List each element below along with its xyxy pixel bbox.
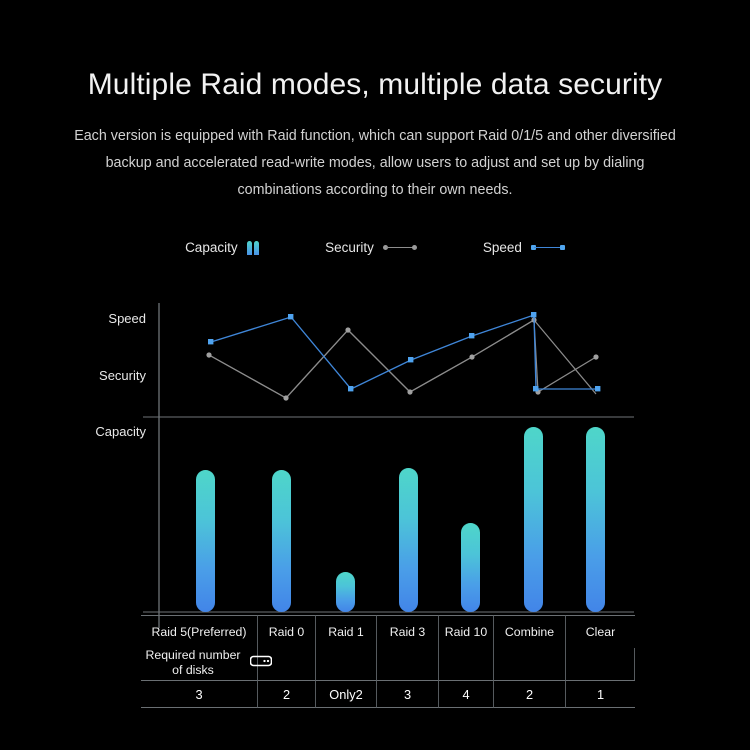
table-value-raid3: 3 <box>377 680 439 708</box>
table-header-row: Raid 5(Preferred) Raid 0 Raid 1 Raid 3 R… <box>141 615 635 648</box>
table-col-raid1: Raid 1 <box>316 615 377 648</box>
required-disks-label: Required number of disks <box>145 648 240 678</box>
table-col-raid5: Raid 5(Preferred) <box>141 615 258 648</box>
legend-label-security: Security <box>325 240 374 255</box>
table-mid-cell-raid3 <box>377 648 439 680</box>
required-disks-label-line1: Required number <box>145 648 240 662</box>
table-value-raid1: Only2 <box>316 680 377 708</box>
table-mid-cell-clear <box>566 648 635 680</box>
table-value-combine: 2 <box>494 680 566 708</box>
bar-raid1 <box>336 572 355 612</box>
legend-label-capacity: Capacity <box>185 240 238 255</box>
bar-raid5 <box>196 470 215 612</box>
line-dot-icon <box>383 244 417 252</box>
bars-icon <box>247 241 260 255</box>
legend-item-capacity: Capacity <box>185 240 259 255</box>
table-col-raid3: Raid 3 <box>377 615 439 648</box>
bar-clear <box>586 427 605 612</box>
table-col-raid10: Raid 10 <box>439 615 494 648</box>
required-disks-label-line2: of disks <box>172 663 214 677</box>
table-value-raid10: 4 <box>439 680 494 708</box>
table-mid-cell-raid1 <box>316 648 377 680</box>
table-col-clear: Clear <box>566 615 635 648</box>
line-square-icon <box>531 244 565 252</box>
header: Multiple Raid modes, multiple data secur… <box>0 0 750 204</box>
page-title: Multiple Raid modes, multiple data secur… <box>0 68 750 101</box>
legend-item-speed: Speed <box>483 240 565 255</box>
table-value-clear: 1 <box>566 680 635 708</box>
table-col-combine: Combine <box>494 615 566 648</box>
bar-combine <box>524 427 543 612</box>
legend-label-speed: Speed <box>483 240 522 255</box>
security-line-series <box>206 317 598 400</box>
table-values-row: 3 2 Only2 3 4 2 1 <box>141 680 635 708</box>
capacity-bars <box>196 427 605 612</box>
page-description: Each version is equipped with Raid funct… <box>64 123 686 204</box>
hard-disk-icon <box>250 654 272 673</box>
bar-raid0 <box>272 470 291 612</box>
axis-label-capacity: Capacity <box>95 424 146 439</box>
chart-axes <box>143 303 634 628</box>
table-mid-cell-combine <box>494 648 566 680</box>
table-mid-cell-raid10 <box>439 648 494 680</box>
axis-label-security: Security <box>99 368 146 383</box>
table-col-raid0: Raid 0 <box>258 615 316 648</box>
table-value-raid0: 2 <box>258 680 316 708</box>
bar-raid10 <box>461 523 480 612</box>
bar-raid3 <box>399 468 418 612</box>
legend-item-security: Security <box>325 240 417 255</box>
speed-line-series <box>208 312 600 391</box>
table-value-raid5: 3 <box>141 680 258 708</box>
raid-infographic-page: Multiple Raid modes, multiple data secur… <box>0 0 750 750</box>
axis-label-speed: Speed <box>108 311 146 326</box>
required-disks-annotation: Required number of disks <box>117 648 300 678</box>
chart-legend: Capacity Security Speed <box>0 240 750 255</box>
